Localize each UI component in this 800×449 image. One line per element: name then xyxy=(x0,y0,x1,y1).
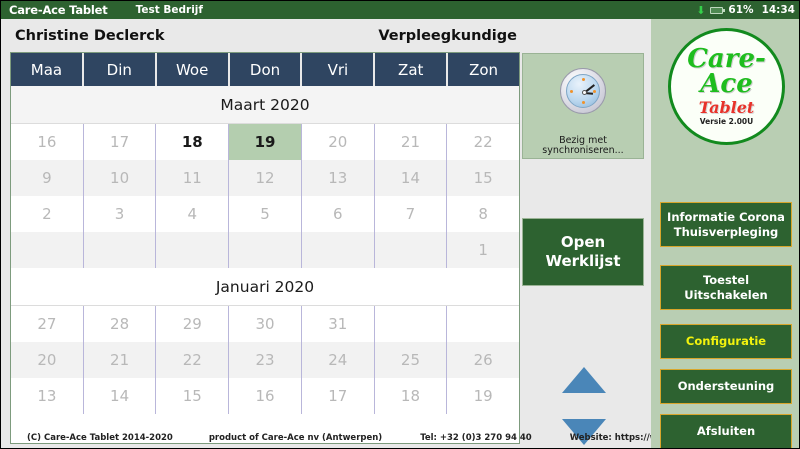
calendar-week-row: 16171819202122 xyxy=(11,124,519,160)
calendar-day-cell[interactable]: 13 xyxy=(11,378,84,414)
calendar-day-cell[interactable]: 18 xyxy=(156,124,229,160)
status-bar: Care-Ace Tablet Test Bedrijf ⬇ 61% 14:34 xyxy=(1,1,800,19)
calendar-day-cell[interactable]: 14 xyxy=(84,378,157,414)
calendar-day-cell[interactable]: 6 xyxy=(302,196,375,232)
calendar-month-label: Maart 2020 xyxy=(11,86,519,124)
user-header: Christine Declerck Verpleegkundige xyxy=(1,19,529,52)
weekday-vri: Vri xyxy=(302,53,375,86)
calendar-day-cell[interactable]: 15 xyxy=(447,160,519,196)
logo-line-tablet: Tablet xyxy=(699,98,755,119)
clock-pip-right xyxy=(593,90,596,93)
sidebar-item-ondersteuning[interactable]: Ondersteuning xyxy=(660,369,792,404)
weekday-zat: Zat xyxy=(375,53,448,86)
calendar-week-row: 13141516171819 xyxy=(11,378,519,414)
calendar-day-cell[interactable]: 15 xyxy=(156,378,229,414)
calendar-day-cell[interactable]: 18 xyxy=(375,378,448,414)
calendar-day-cell[interactable]: 3 xyxy=(84,196,157,232)
calendar-day-empty xyxy=(375,232,448,268)
footer-product: product of Care-Ace nv (Antwerpen) xyxy=(209,433,382,443)
user-name: Christine Declerck xyxy=(15,28,164,44)
clock-hub xyxy=(582,90,587,95)
company-name: Test Bedrijf xyxy=(136,4,203,16)
calendar-week-row: 9101112131415 xyxy=(11,160,519,196)
calendar-day-cell[interactable]: 25 xyxy=(375,342,448,378)
calendar-day-cell[interactable]: 7 xyxy=(375,196,448,232)
clock-pip-top xyxy=(582,78,585,81)
main-content: Christine Declerck Verpleegkundige Maa D… xyxy=(1,19,800,449)
calendar-day-empty xyxy=(11,232,84,268)
calendar-day-cell[interactable]: 27 xyxy=(11,306,84,342)
calendar-day-cell[interactable]: 8 xyxy=(447,196,519,232)
triangle-up-icon[interactable] xyxy=(562,367,606,393)
logo-version: Versie 2.00U xyxy=(700,117,754,126)
calendar-day-cell[interactable]: 10 xyxy=(84,160,157,196)
calendar-week-row: 1 xyxy=(11,232,519,268)
weekday-don: Don xyxy=(230,53,303,86)
calendar-day-cell[interactable]: 30 xyxy=(229,306,302,342)
care-ace-logo: Care- Ace Tablet Versie 2.00U xyxy=(668,28,785,145)
calendar-day-cell[interactable]: 2 xyxy=(11,196,84,232)
calendar-day-cell[interactable]: 31 xyxy=(302,306,375,342)
calendar-day-cell[interactable]: 19 xyxy=(229,124,302,160)
calendar-day-empty xyxy=(302,232,375,268)
calendar-day-cell[interactable]: 21 xyxy=(375,124,448,160)
calendar-day-cell[interactable]: 24 xyxy=(302,342,375,378)
battery-percent: 61% xyxy=(728,4,753,16)
footer-phone: Tel: +32 (0)3 270 94 40 xyxy=(420,433,532,443)
footer: (C) Care-Ace Tablet 2014-2020 product of… xyxy=(1,427,651,449)
download-arrow-icon: ⬇ xyxy=(696,5,705,16)
calendar-day-cell[interactable]: 29 xyxy=(156,306,229,342)
clock-pip-left xyxy=(570,90,573,93)
calendar-week-row: 20212223242526 xyxy=(11,342,519,378)
calendar[interactable]: Maa Din Woe Don Vri Zat Zon Maart 202016… xyxy=(10,52,520,444)
calendar-day-cell[interactable]: 1 xyxy=(447,232,519,268)
calendar-day-empty xyxy=(84,232,157,268)
calendar-day-cell[interactable]: 9 xyxy=(11,160,84,196)
weekday-zon: Zon xyxy=(448,53,519,86)
calendar-day-cell[interactable]: 21 xyxy=(84,342,157,378)
calendar-day-cell[interactable]: 16 xyxy=(229,378,302,414)
clock-face xyxy=(566,74,600,108)
sidebar: Care- Ace Tablet Versie 2.00U Informatie… xyxy=(651,19,800,449)
sync-panel: Bezig met synchroniseren... xyxy=(522,53,644,159)
open-worklist-button[interactable]: Open Werklijst xyxy=(522,218,644,286)
user-role: Verpleegkundige xyxy=(378,28,517,44)
sync-status-text: Bezig met synchroniseren... xyxy=(523,136,643,157)
calendar-day-cell[interactable]: 20 xyxy=(302,124,375,160)
app-title: Care-Ace Tablet xyxy=(9,3,108,17)
calendar-day-cell[interactable]: 11 xyxy=(156,160,229,196)
calendar-weekday-header: Maa Din Woe Don Vri Zat Zon xyxy=(11,53,519,86)
calendar-day-cell[interactable]: 17 xyxy=(302,378,375,414)
calendar-day-empty xyxy=(229,232,302,268)
clock-pip-bottom xyxy=(582,101,585,104)
calendar-day-cell[interactable]: 26 xyxy=(447,342,519,378)
sidebar-item-power-off[interactable]: Toestel Uitschakelen xyxy=(660,265,792,310)
footer-copyright: (C) Care-Ace Tablet 2014-2020 xyxy=(27,433,173,443)
calendar-day-cell[interactable]: 4 xyxy=(156,196,229,232)
weekday-woe: Woe xyxy=(157,53,230,86)
calendar-day-cell[interactable]: 17 xyxy=(84,124,157,160)
calendar-day-cell[interactable]: 19 xyxy=(447,378,519,414)
calendar-day-cell[interactable]: 5 xyxy=(229,196,302,232)
calendar-day-cell[interactable]: 28 xyxy=(84,306,157,342)
calendar-week-row: 2728293031 xyxy=(11,306,519,342)
calendar-day-cell[interactable]: 23 xyxy=(229,342,302,378)
status-indicators: ⬇ 61% 14:34 xyxy=(696,4,795,16)
weekday-maa: Maa xyxy=(11,53,84,86)
app-window: Care-Ace Tablet Test Bedrijf ⬇ 61% 14:34… xyxy=(0,0,800,449)
logo-line-ace: Ace xyxy=(700,72,753,97)
calendar-day-empty xyxy=(447,306,519,342)
weekday-din: Din xyxy=(84,53,157,86)
calendar-week-row: 2345678 xyxy=(11,196,519,232)
calendar-month-label: Januari 2020 xyxy=(11,268,519,306)
sidebar-item-corona-info[interactable]: Informatie Corona Thuisverpleging xyxy=(660,202,792,247)
calendar-body: Maart 2020161718192021229101112131415234… xyxy=(11,86,519,414)
left-pane: Christine Declerck Verpleegkundige Maa D… xyxy=(1,19,651,449)
calendar-day-cell[interactable]: 16 xyxy=(11,124,84,160)
clock-time: 14:34 xyxy=(762,4,795,16)
calendar-day-empty xyxy=(156,232,229,268)
sidebar-item-afsluiten[interactable]: Afsluiten xyxy=(660,414,792,449)
sidebar-item-configuratie[interactable]: Configuratie xyxy=(660,324,792,359)
calendar-day-cell[interactable]: 13 xyxy=(302,160,375,196)
calendar-day-cell[interactable]: 22 xyxy=(156,342,229,378)
battery-icon xyxy=(710,7,723,14)
clock-sync-icon xyxy=(560,68,606,114)
calendar-day-cell[interactable]: 12 xyxy=(229,160,302,196)
calendar-day-cell[interactable]: 20 xyxy=(11,342,84,378)
calendar-day-empty xyxy=(375,306,448,342)
calendar-day-cell[interactable]: 22 xyxy=(447,124,519,160)
calendar-day-cell[interactable]: 14 xyxy=(375,160,448,196)
